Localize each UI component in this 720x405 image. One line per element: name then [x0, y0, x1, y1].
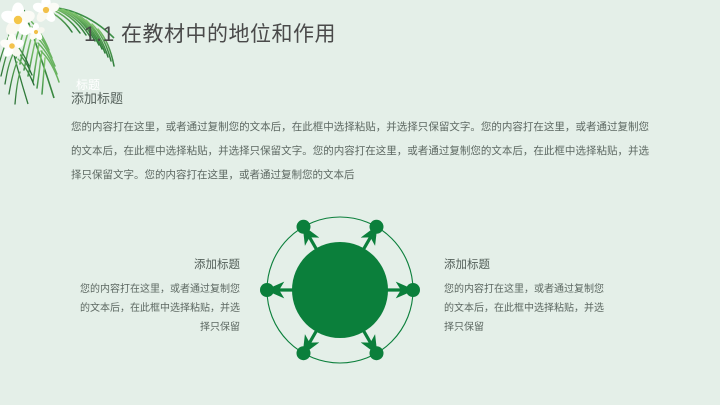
left-text-block: 添加标题 您的内容打在这里，或者通过复制您的文本后，在此框中选择粘贴，并选择只保…: [78, 256, 240, 337]
right-block-body: 您的内容打在这里，或者通过复制您的文本后，在此框中选择粘贴，并选择只保留: [444, 280, 606, 337]
body-paragraph: 您的内容打在这里，或者通过复制您的文本后，在此框中选择粘贴，并选择只保留文字。您…: [71, 115, 649, 187]
left-block-body: 您的内容打在这里，或者通过复制您的文本后，在此框中选择粘贴，并选择只保留: [78, 280, 240, 337]
slide-canvas: 1.1 在教材中的地位和作用 添加标题 您的内容打在这里，或者通过复制您的文本后…: [0, 0, 720, 405]
left-block-heading: 添加标题: [78, 256, 240, 272]
right-block-heading: 添加标题: [444, 256, 606, 272]
diagram-node-240: [297, 346, 311, 360]
diagram-node-0: [406, 283, 420, 297]
radial-hub-diagram: [252, 208, 428, 376]
diagram-node-120: [297, 220, 311, 234]
right-text-block: 添加标题 您的内容打在这里，或者通过复制您的文本后，在此框中选择粘贴，并选择只保…: [444, 256, 606, 337]
diagram-center-circle: [292, 242, 388, 338]
diagram-node-60: [370, 220, 384, 234]
section-heading: 添加标题: [71, 88, 123, 107]
diagram-node-300: [370, 346, 384, 360]
page-title: 1.1 在教材中的地位和作用: [84, 18, 336, 48]
diagram-node-180: [260, 283, 274, 297]
